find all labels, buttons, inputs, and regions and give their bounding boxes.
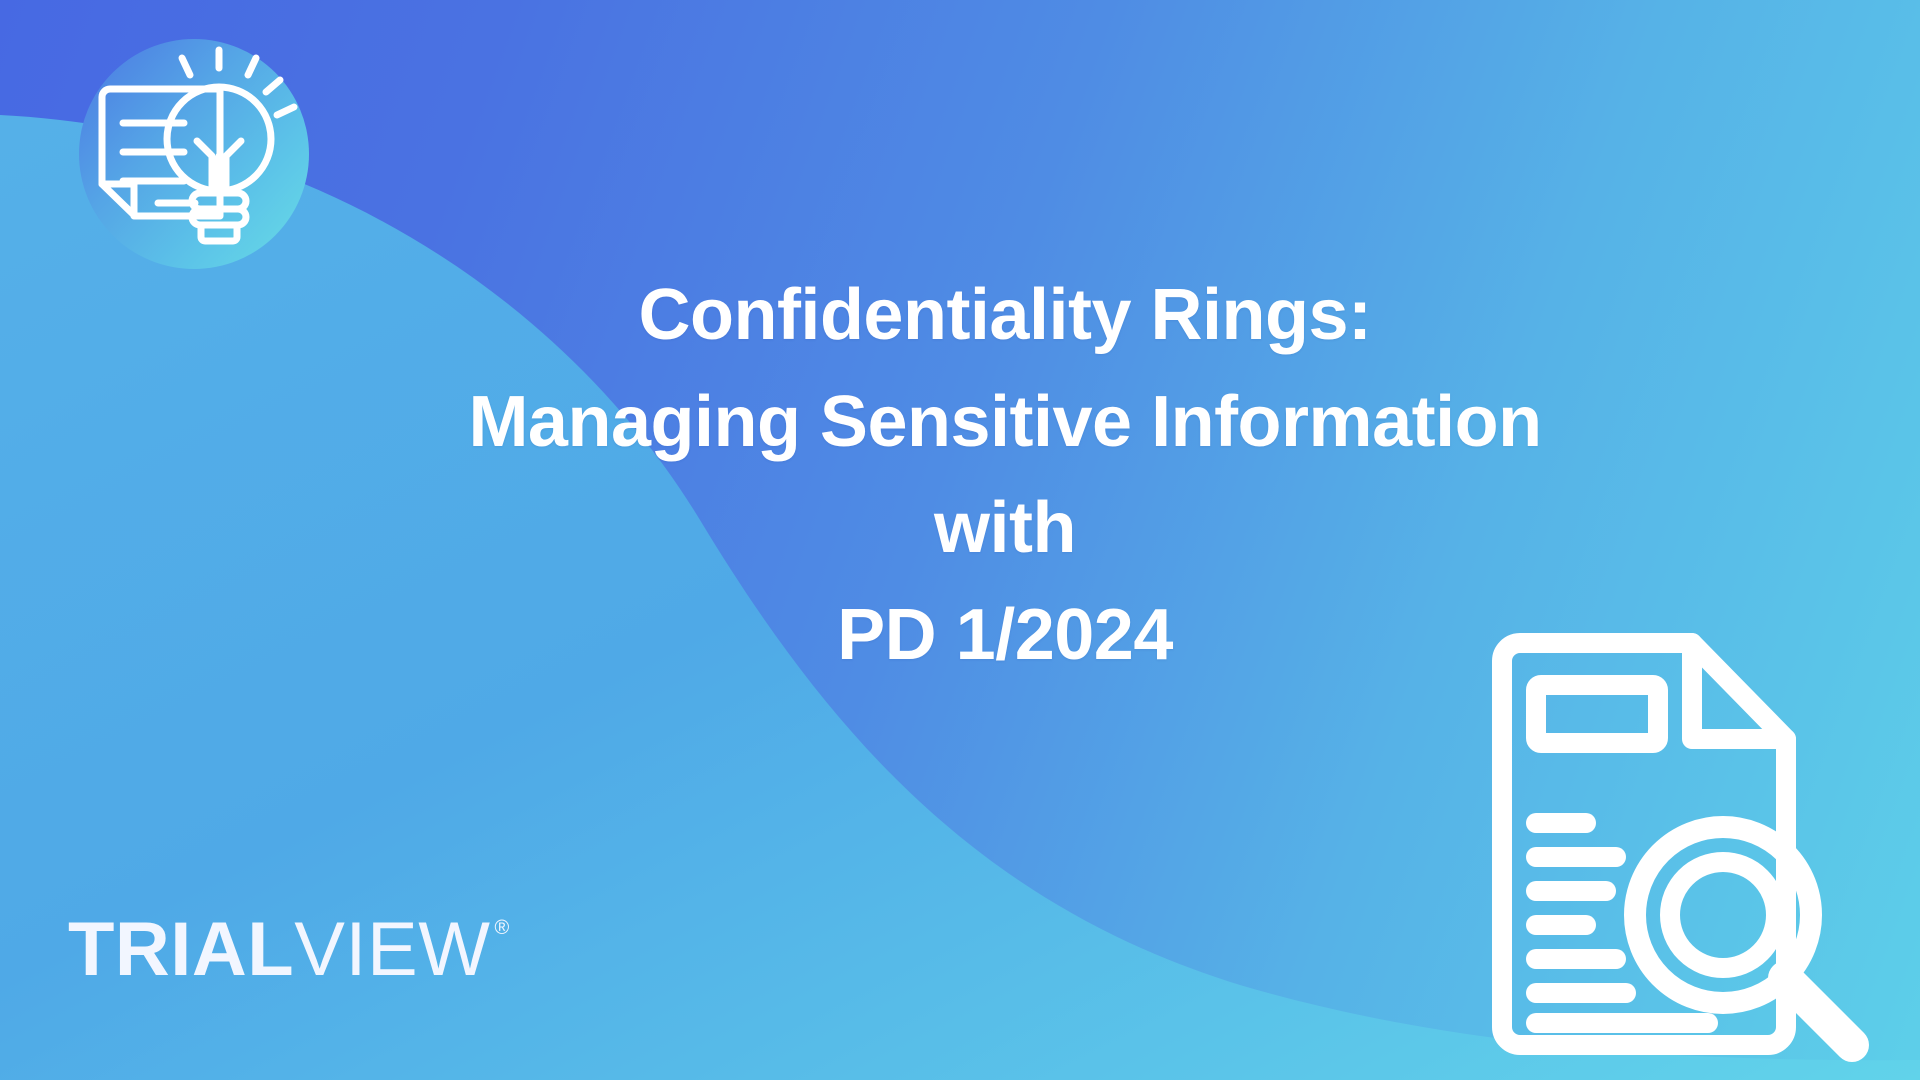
title-line-3: with bbox=[215, 475, 1795, 582]
slide-banner: Confidentiality Rings: Managing Sensitiv… bbox=[0, 0, 1920, 1080]
title-line-2: Managing Sensitive Information bbox=[215, 369, 1795, 476]
lightbulb-document-icon bbox=[68, 28, 320, 280]
trialview-logo: TRIAL VIEW ® bbox=[68, 912, 510, 988]
logo-text-view: VIEW bbox=[294, 912, 490, 988]
logo-text-trial: TRIAL bbox=[68, 912, 294, 988]
document-magnifier-icon bbox=[1480, 623, 1900, 1068]
registered-trademark-icon: ® bbox=[494, 918, 509, 938]
title-line-1: Confidentiality Rings: bbox=[215, 262, 1795, 369]
